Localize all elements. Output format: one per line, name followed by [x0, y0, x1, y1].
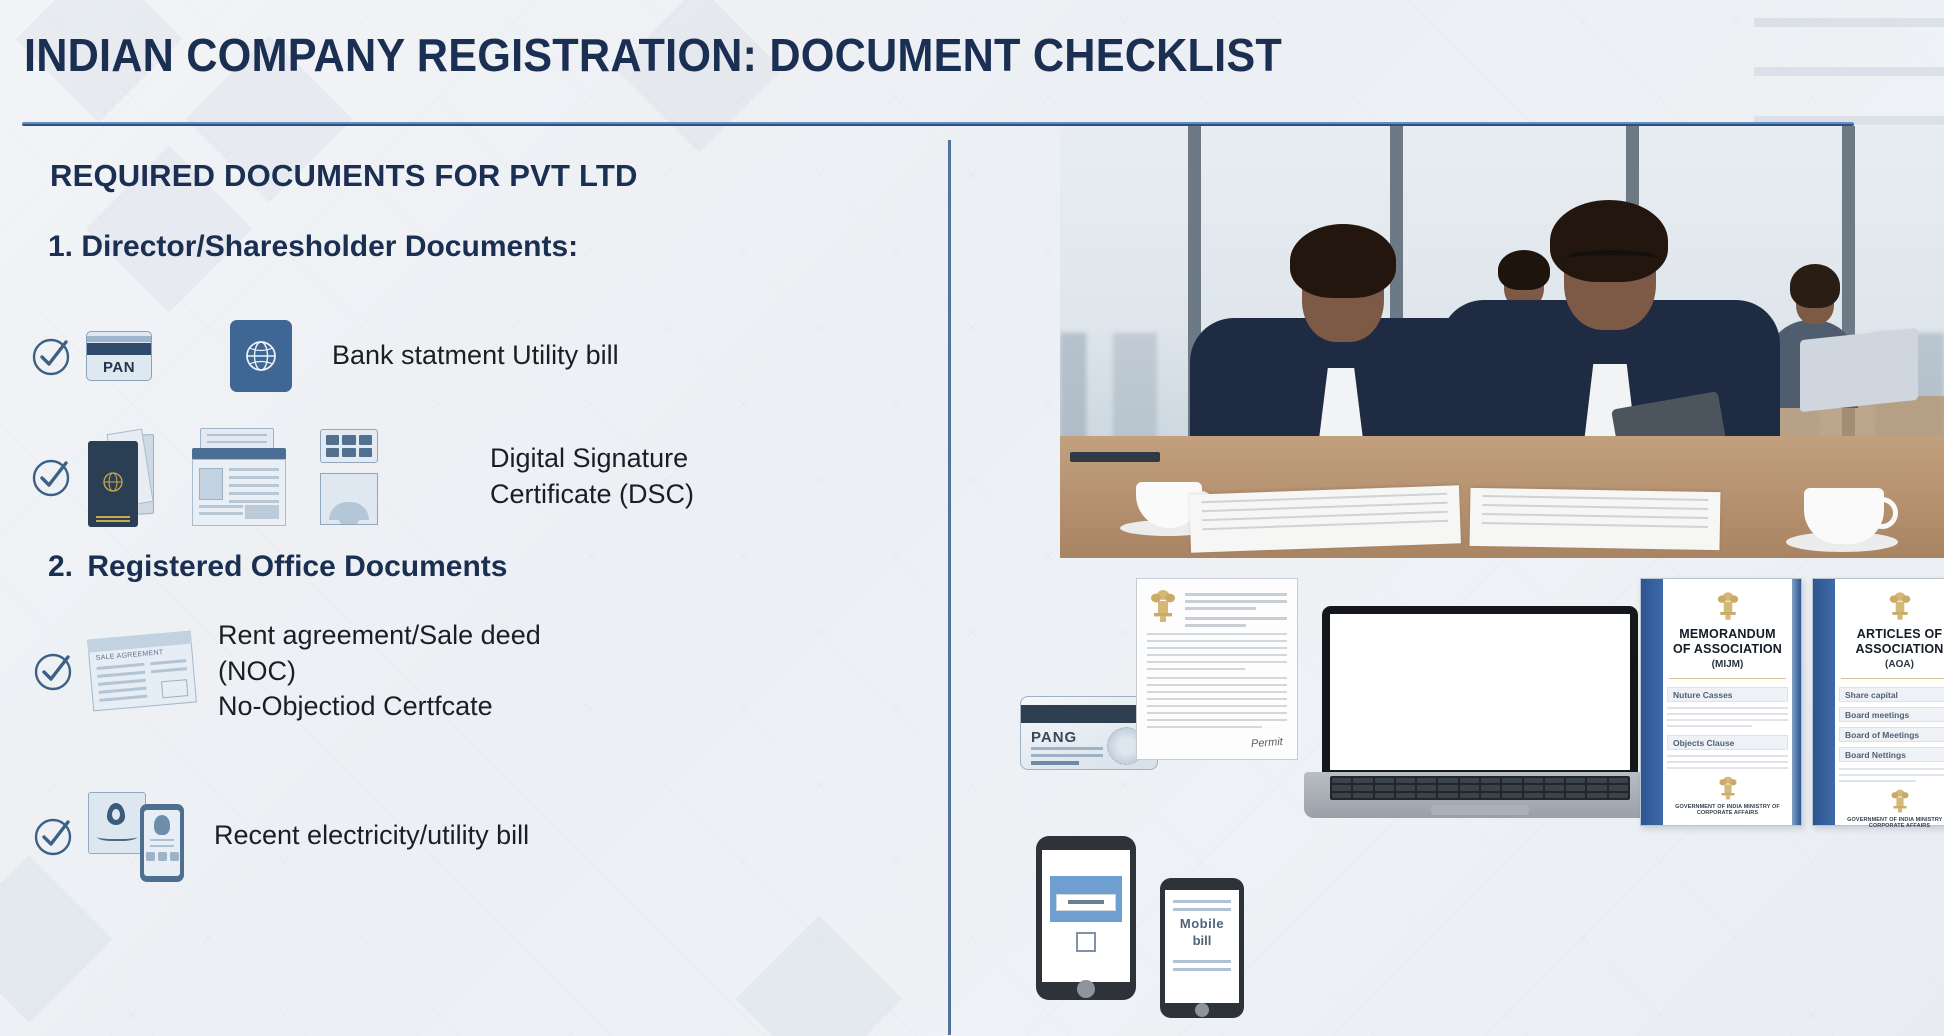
pan-card-icon: PAN — [86, 331, 152, 381]
list-item: PAN Bank statment Utility bill — [30, 320, 619, 392]
desk-device — [1070, 452, 1160, 462]
check-circle-icon — [30, 455, 74, 499]
government-certificate: Permit — [1136, 578, 1298, 760]
section-1-heading: 1. Director/Sharesholder Documents: — [48, 230, 578, 264]
background-laptop — [1800, 328, 1918, 412]
doc-field: Board Nettings — [1839, 747, 1944, 762]
list-item: Recent electricity/utility bill — [32, 790, 529, 882]
doc-field: Share capital — [1839, 687, 1944, 702]
memorandum-of-association-card: MEMORANDUM OF ASSOCIATION (MIJM) Nuture … — [1640, 578, 1802, 826]
phone-bill-line-2: bill — [1165, 933, 1239, 948]
doc-title-line-2: OF ASSOCIATION — [1667, 642, 1788, 657]
list-item-label: Bank statment Utility bill — [332, 338, 619, 374]
list-item: SALE AGREEMENT Rent agreement/Sale deed … — [32, 618, 541, 725]
electricity-bill-icon — [88, 790, 184, 882]
check-circle-icon — [32, 814, 76, 858]
list-item-label: Recent electricity/utility bill — [214, 818, 529, 854]
left-content-column: REQUIRED DOCUMENTS FOR PVT LTD 1. Direct… — [0, 140, 940, 1036]
eyeglasses — [1566, 250, 1658, 266]
list-item-label: Digital Signature Certificate (DSC) — [490, 441, 694, 512]
section-2-number: 2. — [48, 550, 73, 583]
laptop-blank-screen — [1304, 606, 1656, 818]
qr-code-icon — [1076, 932, 1096, 952]
check-circle-icon — [32, 649, 76, 693]
id-card-icon — [186, 428, 286, 526]
list-item: Digital Signature Certificate (DSC) — [30, 428, 694, 526]
globe-passport-icon — [230, 320, 292, 392]
smartphone-mobile-bill: Mobile bill — [1160, 878, 1244, 1018]
doc-subtitle: (MIJM) — [1667, 659, 1788, 670]
home-button — [1195, 1003, 1209, 1017]
list-item-label: Rent agreement/Sale deed (NOC) No-Object… — [218, 618, 541, 725]
india-emblem-icon — [1149, 589, 1177, 623]
barcode-photo-icon — [320, 429, 380, 525]
sale-deed-icon: SALE AGREEMENT — [87, 631, 197, 712]
doc-subtitle: (AOA) — [1839, 659, 1944, 670]
laptop-keyboard — [1330, 776, 1630, 800]
pan-card-label: PAN — [87, 359, 151, 376]
laptop-screen — [1330, 614, 1630, 770]
india-emblem-icon — [1890, 788, 1910, 814]
check-circle-icon — [30, 334, 74, 378]
pan-card-text: PANG — [1031, 729, 1077, 746]
india-emblem-icon — [1716, 591, 1740, 621]
office-meeting-photo — [1060, 126, 1944, 558]
desk-document — [1189, 485, 1461, 552]
passport-icon — [88, 431, 154, 523]
doc-field: Board meetings — [1839, 707, 1944, 722]
section-2-heading: 2. Registered Office Documents — [48, 550, 507, 584]
smartphone-qr — [1036, 836, 1136, 1000]
slide-canvas: INDIAN COMPANY REGISTRATION: DOCUMENT CH… — [0, 0, 1944, 1036]
required-documents-heading: REQUIRED DOCUMENTS FOR PVT LTD — [50, 158, 638, 194]
desk-document — [1470, 488, 1721, 550]
doc-title-line-1: MEMORANDUM — [1667, 627, 1788, 642]
articles-of-association-card: ARTICLES OF ASSOCIATION (AOA) Share capi… — [1812, 578, 1944, 826]
india-emblem-icon — [1718, 775, 1738, 801]
certificate-signature: Permit — [1251, 736, 1284, 750]
right-visual-column: PANG Mobile bill — [960, 126, 1944, 1036]
laptop-trackpad — [1431, 805, 1529, 815]
document-icon-cluster: PANG Mobile bill — [960, 578, 1944, 1036]
doc-footer: GOVERNMENT OF INDIA MINISTRY OF CORPORAT… — [1839, 817, 1944, 829]
doc-footer: GOVERNMENT OF INDIA MINISTRY OF CORPORAT… — [1667, 804, 1788, 816]
page-title: INDIAN COMPANY REGISTRATION: DOCUMENT CH… — [24, 28, 1282, 82]
doc-title-line-2: ASSOCIATION — [1839, 642, 1944, 657]
doc-title-line-1: ARTICLES OF — [1839, 627, 1944, 642]
phone-bill-line-1: Mobile — [1165, 916, 1239, 931]
doc-field: Board of Meetings — [1839, 727, 1944, 742]
home-button — [1077, 980, 1095, 998]
india-emblem-icon — [1888, 591, 1912, 621]
doc-field: Objects Clause — [1667, 735, 1788, 750]
coffee-cup — [1804, 488, 1884, 544]
column-divider — [948, 140, 951, 1035]
section-2-title: Registered Office Documents — [81, 550, 507, 583]
section-1-title: Director/Sharesholder Documents: — [81, 230, 578, 263]
section-1-number: 1. — [48, 230, 73, 263]
doc-field: Nuture Casses — [1667, 687, 1788, 702]
